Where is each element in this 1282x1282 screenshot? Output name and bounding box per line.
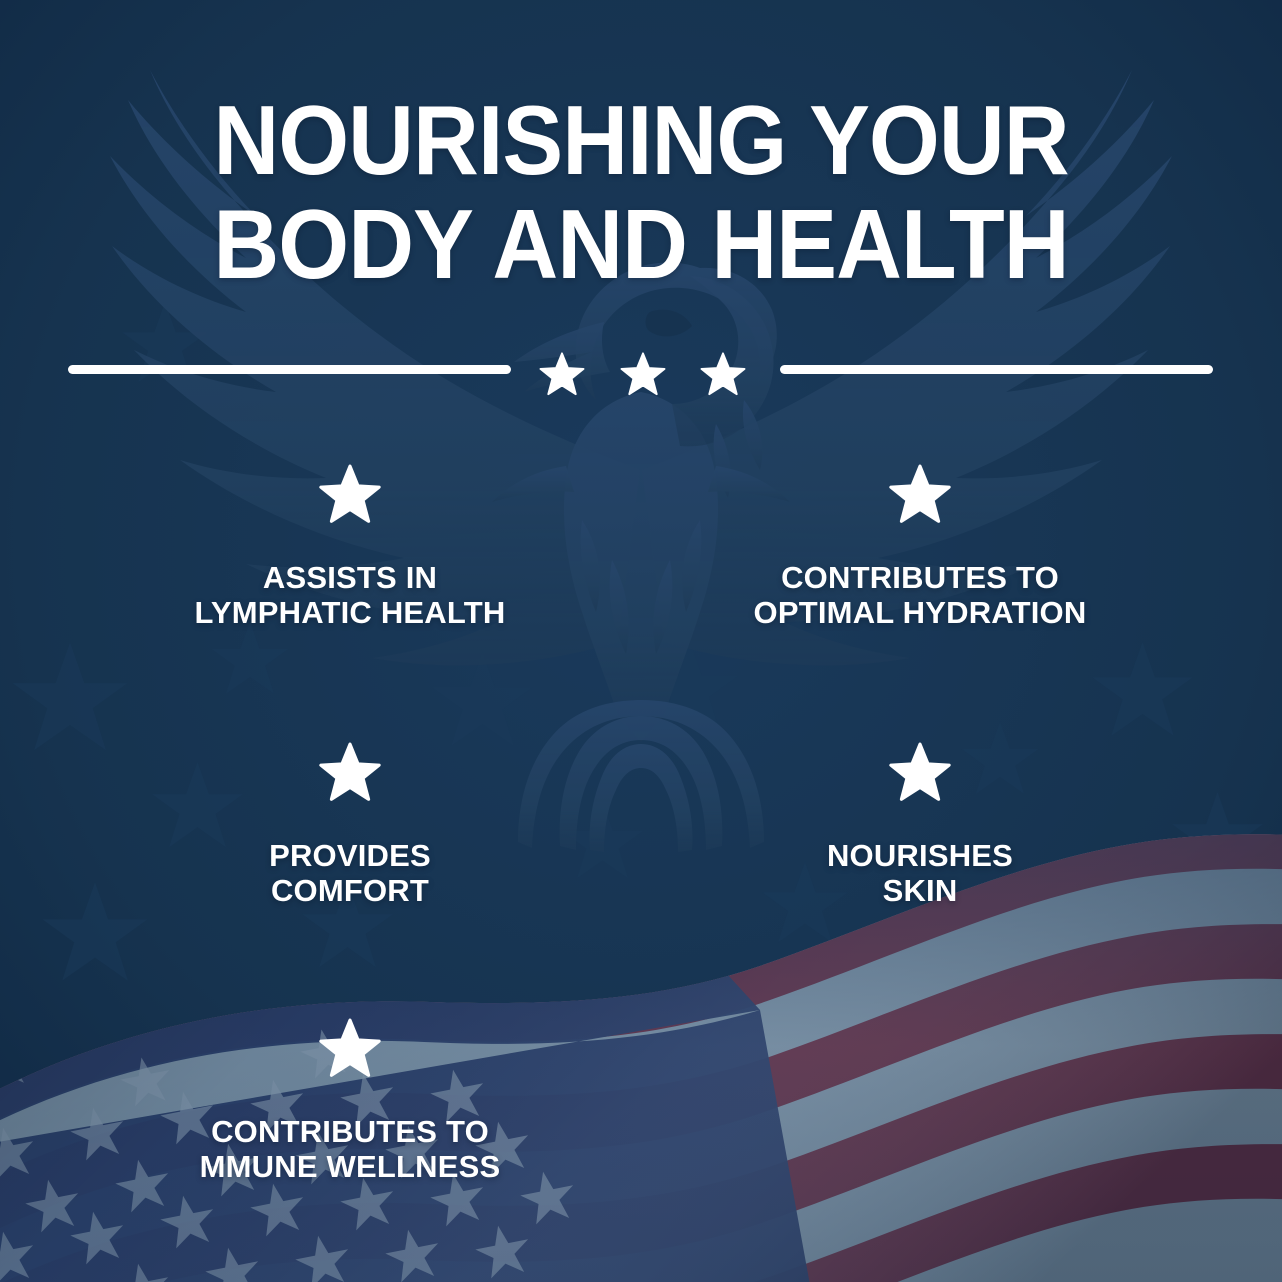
divider-star-2-icon	[620, 352, 666, 396]
feature-item-nourishes-skin: NOURISHES SKIN	[670, 742, 1170, 908]
divider-rule-right	[780, 365, 1213, 374]
feature-item-optimal-hydration: CONTRIBUTES TO OPTIMAL HYDRATION	[670, 464, 1170, 630]
star-icon	[319, 742, 381, 802]
feature-label: NOURISHES SKIN	[670, 838, 1170, 908]
poster-content: NOURISHING YOUR BODY AND HEALTH	[0, 0, 1282, 1282]
feature-label: PROVIDES COMFORT	[110, 838, 590, 908]
divider-star-1-icon	[539, 352, 585, 396]
divider-rule-left	[68, 365, 511, 374]
feature-label: CONTRIBUTES TO MMUNE WELLNESS	[110, 1114, 590, 1184]
star-icon	[889, 742, 951, 802]
feature-item-immune-wellness: CONTRIBUTES TO MMUNE WELLNESS	[110, 1018, 590, 1184]
feature-item-provides-comfort: PROVIDES COMFORT	[110, 742, 590, 908]
feature-item-lymphatic-health: ASSISTS IN LYMPHATIC HEALTH	[110, 464, 590, 630]
feature-label: CONTRIBUTES TO OPTIMAL HYDRATION	[670, 560, 1170, 630]
star-icon	[889, 464, 951, 524]
star-icon	[319, 1018, 381, 1078]
feature-label: ASSISTS IN LYMPHATIC HEALTH	[110, 560, 590, 630]
poster-canvas: NOURISHING YOUR BODY AND HEALTH	[0, 0, 1282, 1282]
page-title: NOURISHING YOUR BODY AND HEALTH	[45, 88, 1237, 296]
divider-star-3-icon	[700, 352, 746, 396]
divider	[0, 352, 1282, 392]
star-icon	[319, 464, 381, 524]
